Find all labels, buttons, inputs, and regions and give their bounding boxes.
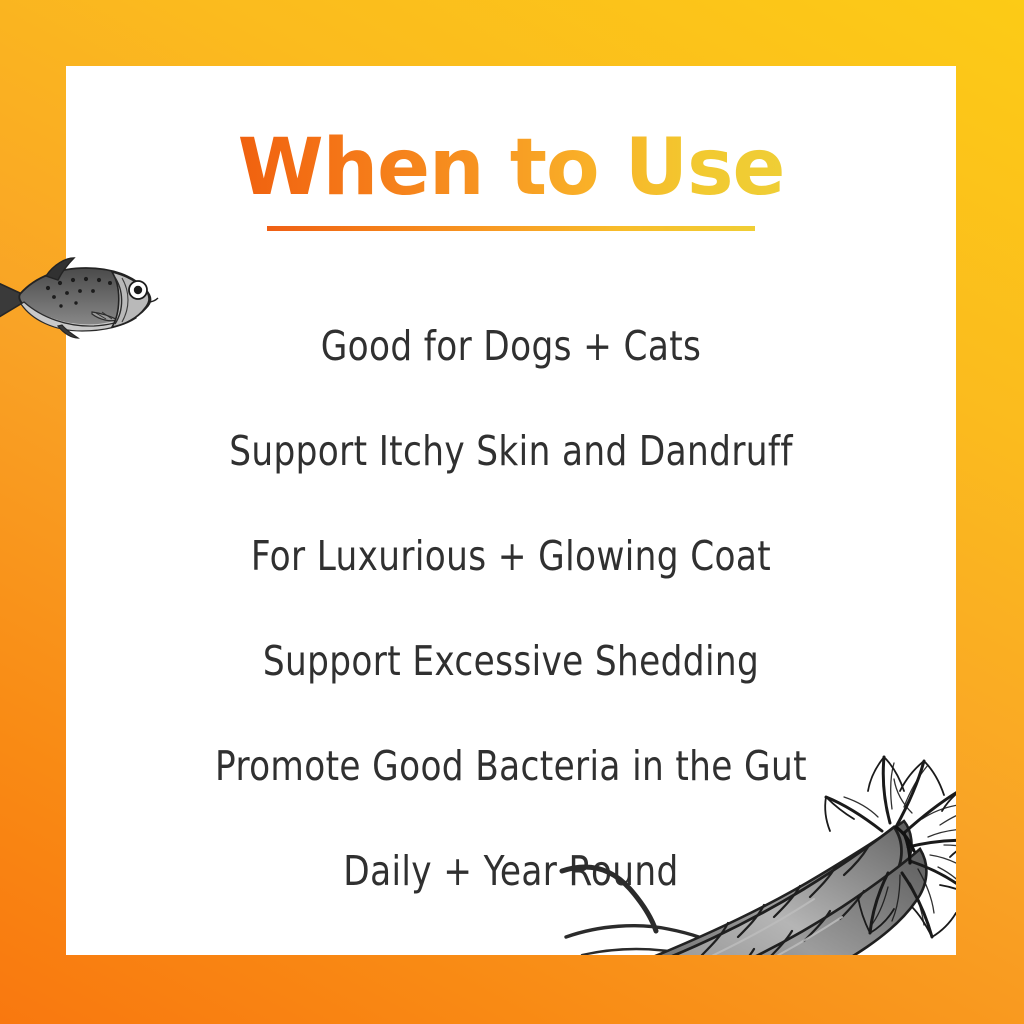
page-title: When to Use xyxy=(238,128,785,210)
poster: When to Use Good for Dogs + Cats Support… xyxy=(0,0,1024,1024)
list-item: For Luxurious + Glowing Coat xyxy=(97,504,925,609)
list-item: Good for Dogs + Cats xyxy=(97,294,925,399)
header: When to Use xyxy=(66,128,956,231)
list-item: Support Itchy Skin and Dandruff xyxy=(97,399,925,504)
content-card: When to Use Good for Dogs + Cats Support… xyxy=(66,66,956,955)
list-item: Support Excessive Shedding xyxy=(97,609,925,714)
carrots-illustration xyxy=(552,723,956,955)
fish-illustration xyxy=(0,250,160,342)
title-underline xyxy=(267,226,755,231)
